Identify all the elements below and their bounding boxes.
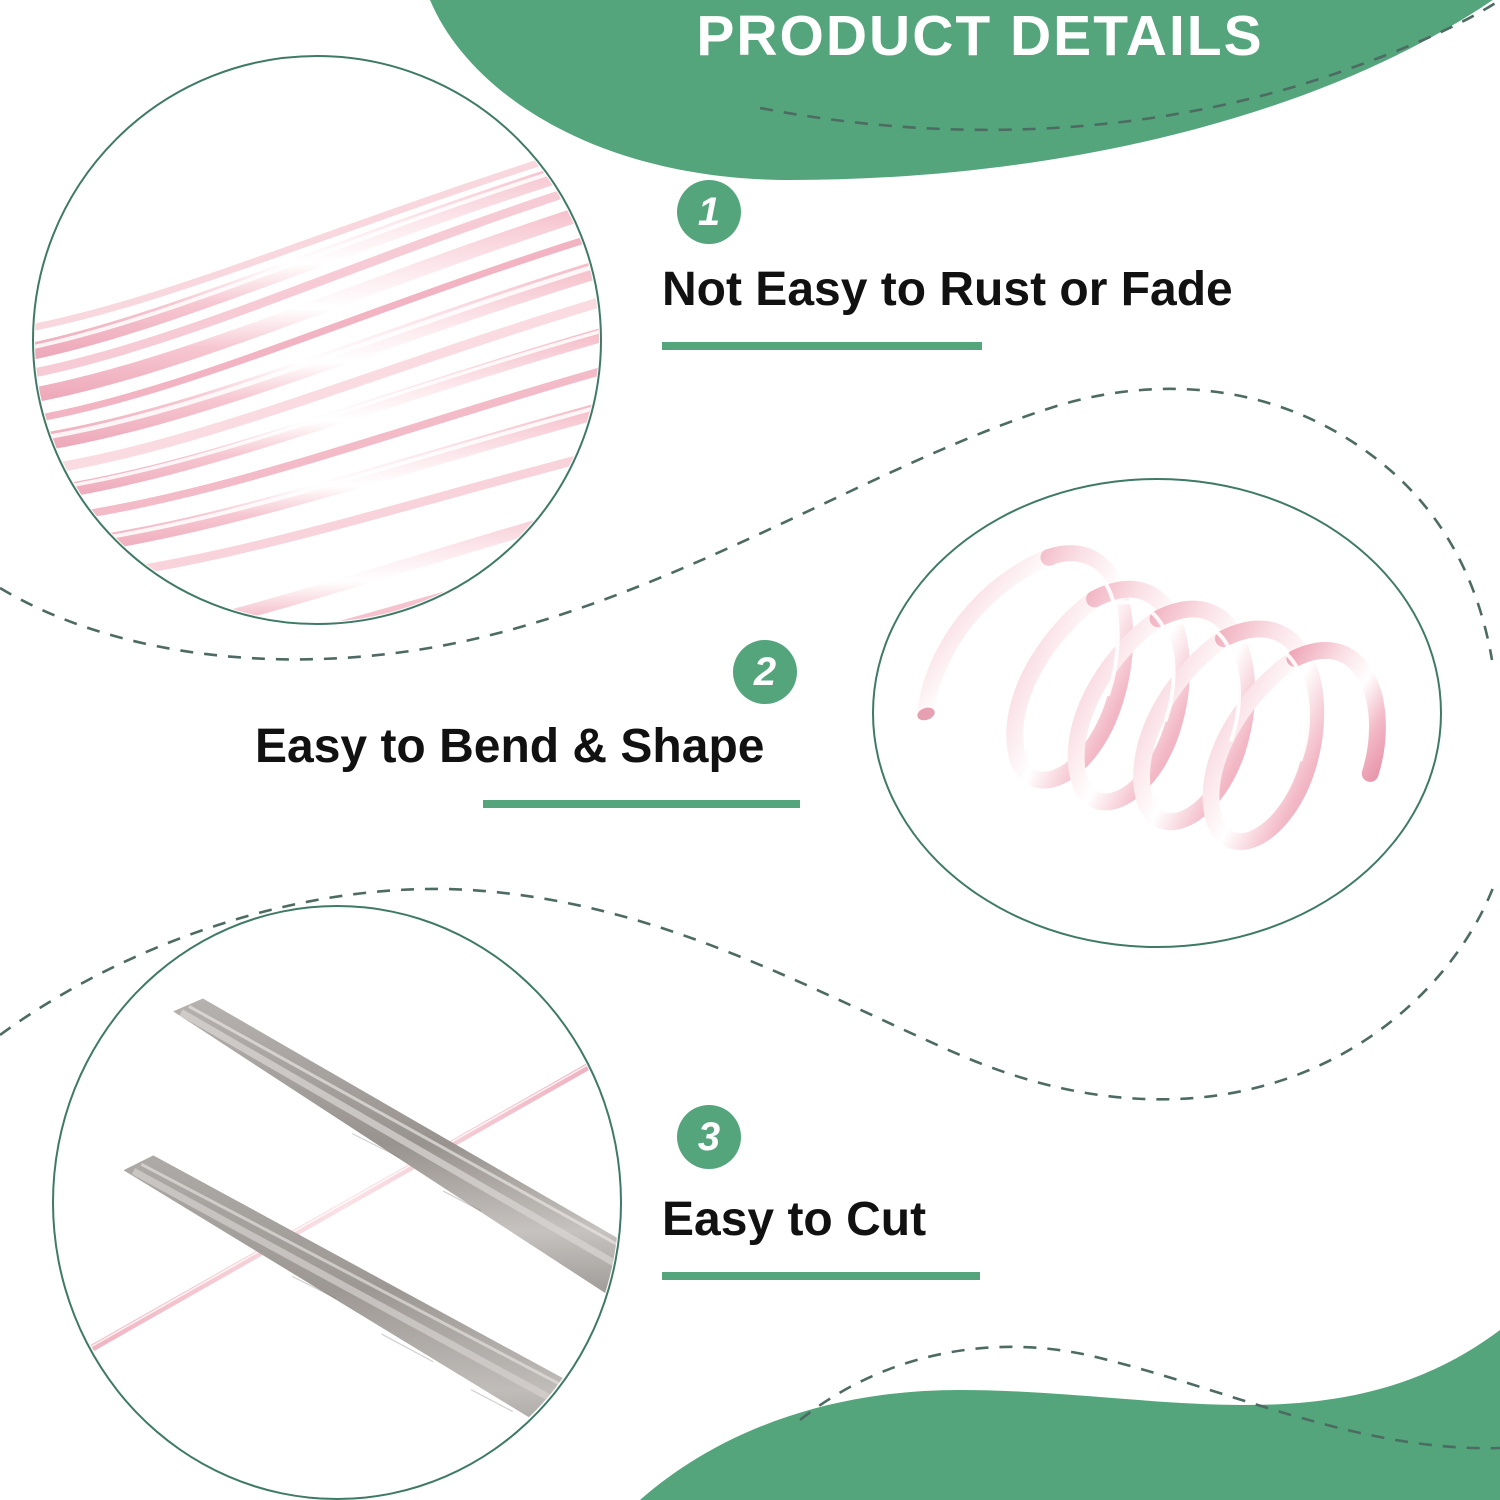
pink-wire-strands-image — [34, 57, 600, 623]
page-title: PRODUCT DETAILS — [640, 8, 1320, 65]
feature-underline-1 — [662, 342, 982, 350]
scissors-cutting-wire-image — [54, 907, 620, 1498]
feature-badge-2: 2 — [733, 640, 797, 704]
feature-title-3: Easy to Cut — [662, 1195, 926, 1245]
photo-scissors-cutting — [52, 905, 622, 1500]
feature-underline-2 — [483, 800, 800, 808]
feature-title-2: Easy to Bend & Shape — [255, 722, 764, 772]
feature-underline-3 — [662, 1272, 980, 1280]
photo-wire-spiral — [872, 478, 1442, 948]
footer-green-blob — [640, 1330, 1500, 1500]
photo-wire-strands — [32, 55, 602, 625]
feature-badge-3: 3 — [677, 1105, 741, 1169]
feature-badge-1: 1 — [677, 180, 741, 244]
product-details-infographic: PRODUCT DETAILS — [0, 0, 1500, 1500]
feature-title-1: Not Easy to Rust or Fade — [662, 265, 1233, 315]
pink-wire-spiral-image — [874, 480, 1440, 946]
